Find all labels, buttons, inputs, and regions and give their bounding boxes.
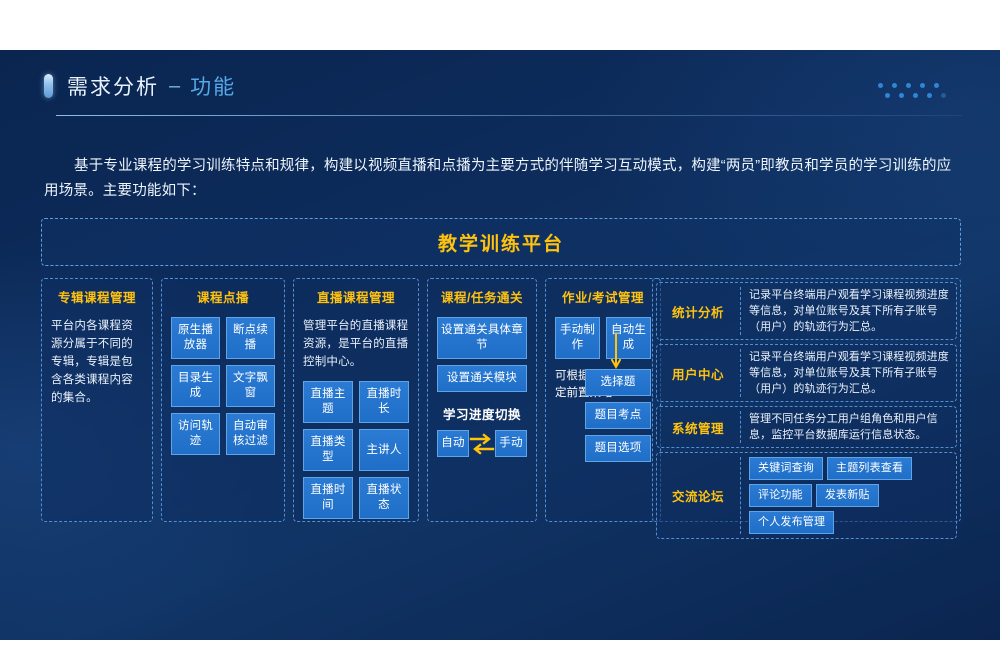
dot <box>934 83 939 88</box>
down-arrow-icon <box>611 333 621 373</box>
column-homework-exam-management: 作业/考试管理 手动制作 自动生成 可根据实际需求制定前置策略 选择题 题目考点… <box>545 278 661 522</box>
panel-row-label: 用户中心 <box>661 349 741 397</box>
chip-item[interactable]: 主讲人 <box>359 429 409 471</box>
panel-row-user-center: 用户中心 记录平台终端用户观看学习课程视频进度等信息，对单位账号及其下所有子账号… <box>656 344 957 402</box>
panel-row-description: 记录平台终端用户观看学习课程视频进度等信息，对单位账号及其下所有子账号（用户）的… <box>749 349 950 397</box>
dot <box>906 83 911 88</box>
column-chip-grid: 原生播放器 断点续播 目录生成 文字飘窗 访问轨迹 自动审核过滤 <box>171 317 275 455</box>
chip-item[interactable]: 直播主题 <box>303 381 353 423</box>
chip-item[interactable]: 选择题 <box>585 369 651 396</box>
chip-item[interactable]: 直播时间 <box>303 477 353 519</box>
panel-row-label: 统计分析 <box>661 287 741 335</box>
progress-switch-label: 学习进度切换 <box>443 404 521 423</box>
panel-row-label: 系统管理 <box>661 411 741 443</box>
column-title: 专辑课程管理 <box>58 290 136 307</box>
column-chip-grid: 手动制作 自动生成 <box>555 317 651 359</box>
dot <box>927 93 932 98</box>
slide-header: 需求分析 – 功能 <box>40 68 962 122</box>
panel-row-label: 交流论坛 <box>661 457 741 534</box>
column-title: 作业/考试管理 <box>562 290 644 307</box>
chip-item[interactable]: 设置通关模块 <box>437 365 527 392</box>
column-title: 课程/任务通关 <box>441 290 523 307</box>
column-live-course-management: 直播课程管理 管理平台的直播课程资源，是平台的直播控制中心。 直播主题 直播时长… <box>293 278 419 522</box>
chip-item[interactable]: 设置通关具体章节 <box>437 317 527 359</box>
column-description: 管理平台的直播课程资源，是平台的直播控制中心。 <box>303 317 409 371</box>
dot <box>885 93 890 98</box>
question-flow-list: 选择题 题目考点 题目选项 <box>555 369 651 462</box>
chip-item[interactable]: 关键词查询 <box>749 457 823 480</box>
right-feature-panel: 统计分析 记录平台终端用户观看学习课程视频进度等信息，对单位账号及其下所有子账号… <box>652 278 961 522</box>
dot <box>878 83 883 88</box>
dot-grid-decoration <box>878 83 946 98</box>
chip-item[interactable]: 题目选项 <box>585 435 651 462</box>
chip-item[interactable]: 个人发布管理 <box>749 511 834 534</box>
header-divider <box>56 115 962 116</box>
dot <box>913 93 918 98</box>
title-separator-dash: – <box>169 75 180 98</box>
panel-row-system-management: 系统管理 管理不同任务分工用户组角色和用户信息，监控平台数据库运行信息状态。 <box>656 406 957 448</box>
dot-row-top <box>878 83 946 88</box>
column-chip-grid: 设置通关具体章节 设置通关模块 <box>437 317 527 392</box>
bidirectional-arrow-icon <box>469 431 495 457</box>
page-title-main: 需求分析 <box>67 71 159 101</box>
panel-row-statistics: 统计分析 记录平台终端用户观看学习课程视频进度等信息，对单位账号及其下所有子账号… <box>656 282 957 340</box>
panel-row-description: 管理不同任务分工用户组角色和用户信息，监控平台数据库运行信息状态。 <box>749 411 950 443</box>
chip-item[interactable]: 访问轨迹 <box>171 413 220 455</box>
pill-icon <box>44 74 53 98</box>
chip-item[interactable]: 发表新贴 <box>816 484 879 507</box>
page-title-sub: 功能 <box>190 71 236 101</box>
column-course-on-demand: 课程点播 原生播放器 断点续播 目录生成 文字飘窗 访问轨迹 自动审核过滤 <box>161 278 285 522</box>
chip-item[interactable]: 自动审核过滤 <box>226 413 275 455</box>
intro-paragraph: 基于专业课程的学习训练特点和规律，构建以视频直播和点播为主要方式的伴随学习互动模… <box>44 154 962 204</box>
chip-item[interactable]: 评论功能 <box>749 484 812 507</box>
dot <box>899 93 904 98</box>
chip-item[interactable]: 手动制作 <box>555 317 600 359</box>
column-album-course-management: 专辑课程管理 平台内各课程资源分属于不同的专辑，专辑是包含各类课程内容的集合。 <box>41 278 153 522</box>
dot-row-bottom <box>885 93 946 98</box>
dot <box>892 83 897 88</box>
dot <box>941 93 946 98</box>
chip-item[interactable]: 题目考点 <box>585 402 651 429</box>
slide-canvas: 需求分析 – 功能 基于专业课程的学习训练特点和规律，构建以视频直播和点播为主要… <box>0 50 1000 640</box>
dot <box>920 83 925 88</box>
chip-item[interactable]: 直播类型 <box>303 429 353 471</box>
chip-item[interactable]: 直播时长 <box>359 381 409 423</box>
platform-banner: 教学训练平台 <box>41 218 961 266</box>
column-course-task-clearance: 课程/任务通关 设置通关具体章节 设置通关模块 学习进度切换 自动 手动 <box>427 278 537 522</box>
switch-manual-button[interactable]: 手动 <box>495 430 527 457</box>
chip-item[interactable]: 文字飘窗 <box>226 365 275 407</box>
column-title: 课程点播 <box>197 290 249 307</box>
column-title: 直播课程管理 <box>317 290 395 307</box>
chip-item[interactable]: 断点续播 <box>226 317 275 359</box>
panel-row-chips: 关键词查询 主题列表查看 评论功能 发表新贴 个人发布管理 <box>749 457 950 534</box>
chip-item[interactable]: 主题列表查看 <box>827 457 912 480</box>
chip-item[interactable]: 直播状态 <box>359 477 409 519</box>
progress-switch-row: 自动 手动 <box>437 430 527 457</box>
column-chip-grid: 直播主题 直播时长 直播类型 主讲人 直播时间 直播状态 <box>303 381 409 519</box>
chip-item[interactable]: 目录生成 <box>171 365 220 407</box>
switch-auto-button[interactable]: 自动 <box>437 430 469 457</box>
page-title: 需求分析 – 功能 <box>40 68 962 104</box>
column-description: 平台内各课程资源分属于不同的专辑，专辑是包含各类课程内容的集合。 <box>51 317 143 407</box>
panel-row-description: 记录平台终端用户观看学习课程视频进度等信息，对单位账号及其下所有子账号（用户）的… <box>749 287 950 335</box>
chip-item[interactable]: 原生播放器 <box>171 317 220 359</box>
panel-row-forum: 交流论坛 关键词查询 主题列表查看 评论功能 发表新贴 个人发布管理 <box>656 452 957 539</box>
platform-banner-title: 教学训练平台 <box>438 229 564 256</box>
